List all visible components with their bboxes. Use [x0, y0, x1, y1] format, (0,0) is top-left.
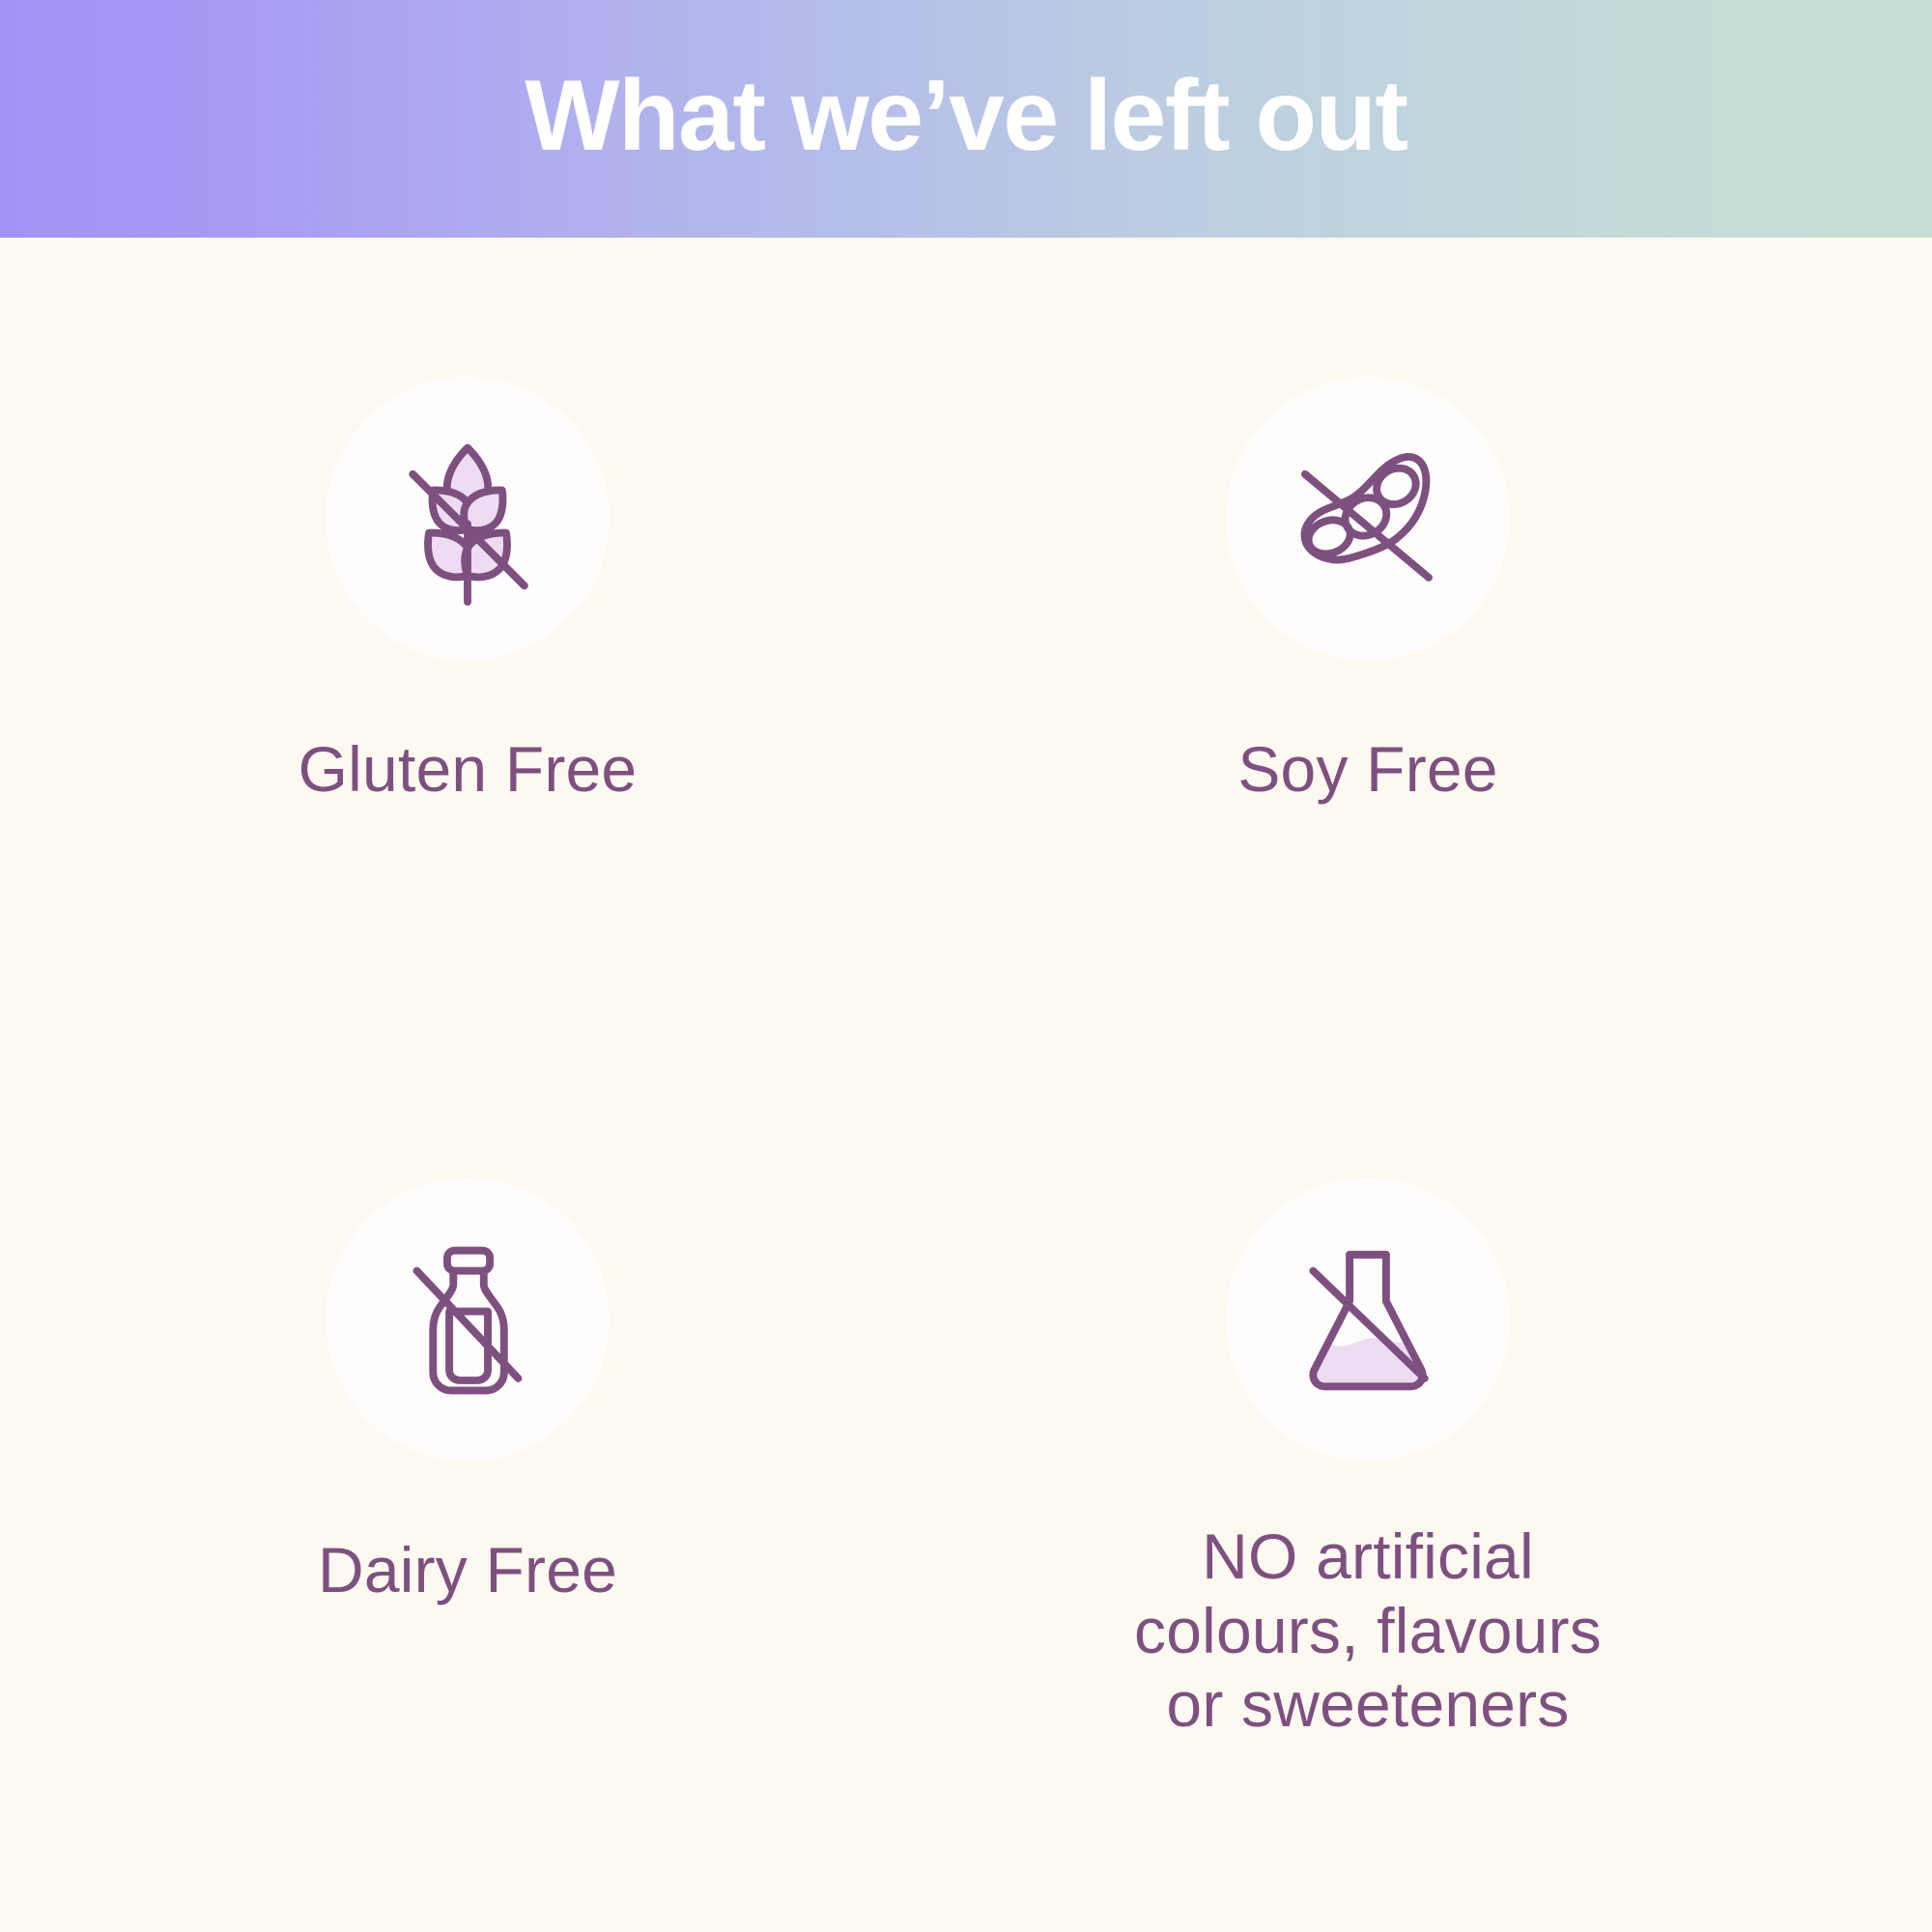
benefit-item-soy-free: Soy Free	[966, 238, 1932, 1085]
wheat-no-icon	[366, 417, 569, 620]
page-title: What we’ve left out	[525, 66, 1406, 172]
benefits-grid: Gluten Free	[0, 238, 1932, 1932]
infographic-page: What we’ve left out	[0, 0, 1932, 1932]
benefit-label-no-artificial: NO artificial colours, flavours or sweet…	[1134, 1520, 1602, 1742]
label-line: Gluten Free	[298, 730, 638, 809]
soy-pod-no-icon	[1266, 417, 1469, 620]
benefit-label-dairy-free: Dairy Free	[318, 1531, 617, 1609]
benefit-label-gluten-free: Gluten Free	[298, 730, 638, 809]
benefit-item-gluten-free: Gluten Free	[0, 238, 966, 1085]
icon-badge-gluten-free	[326, 377, 610, 661]
label-line: colours, flavours	[1134, 1594, 1602, 1668]
icon-badge-soy-free	[1226, 377, 1510, 661]
page-header: What we’ve left out	[0, 0, 1932, 238]
label-line: Dairy Free	[318, 1531, 617, 1609]
icon-badge-no-artificial	[1226, 1178, 1510, 1462]
benefit-item-no-artificial: NO artificial colours, flavours or sweet…	[966, 1085, 1932, 1932]
label-line: NO artificial	[1134, 1520, 1602, 1594]
benefit-label-soy-free: Soy Free	[1237, 730, 1497, 809]
label-line: Soy Free	[1237, 730, 1497, 809]
milk-bottle-no-icon	[366, 1218, 569, 1421]
benefit-item-dairy-free: Dairy Free	[0, 1085, 966, 1932]
label-line: or sweeteners	[1134, 1667, 1602, 1742]
flask-no-icon	[1266, 1218, 1469, 1421]
icon-badge-dairy-free	[326, 1178, 610, 1462]
